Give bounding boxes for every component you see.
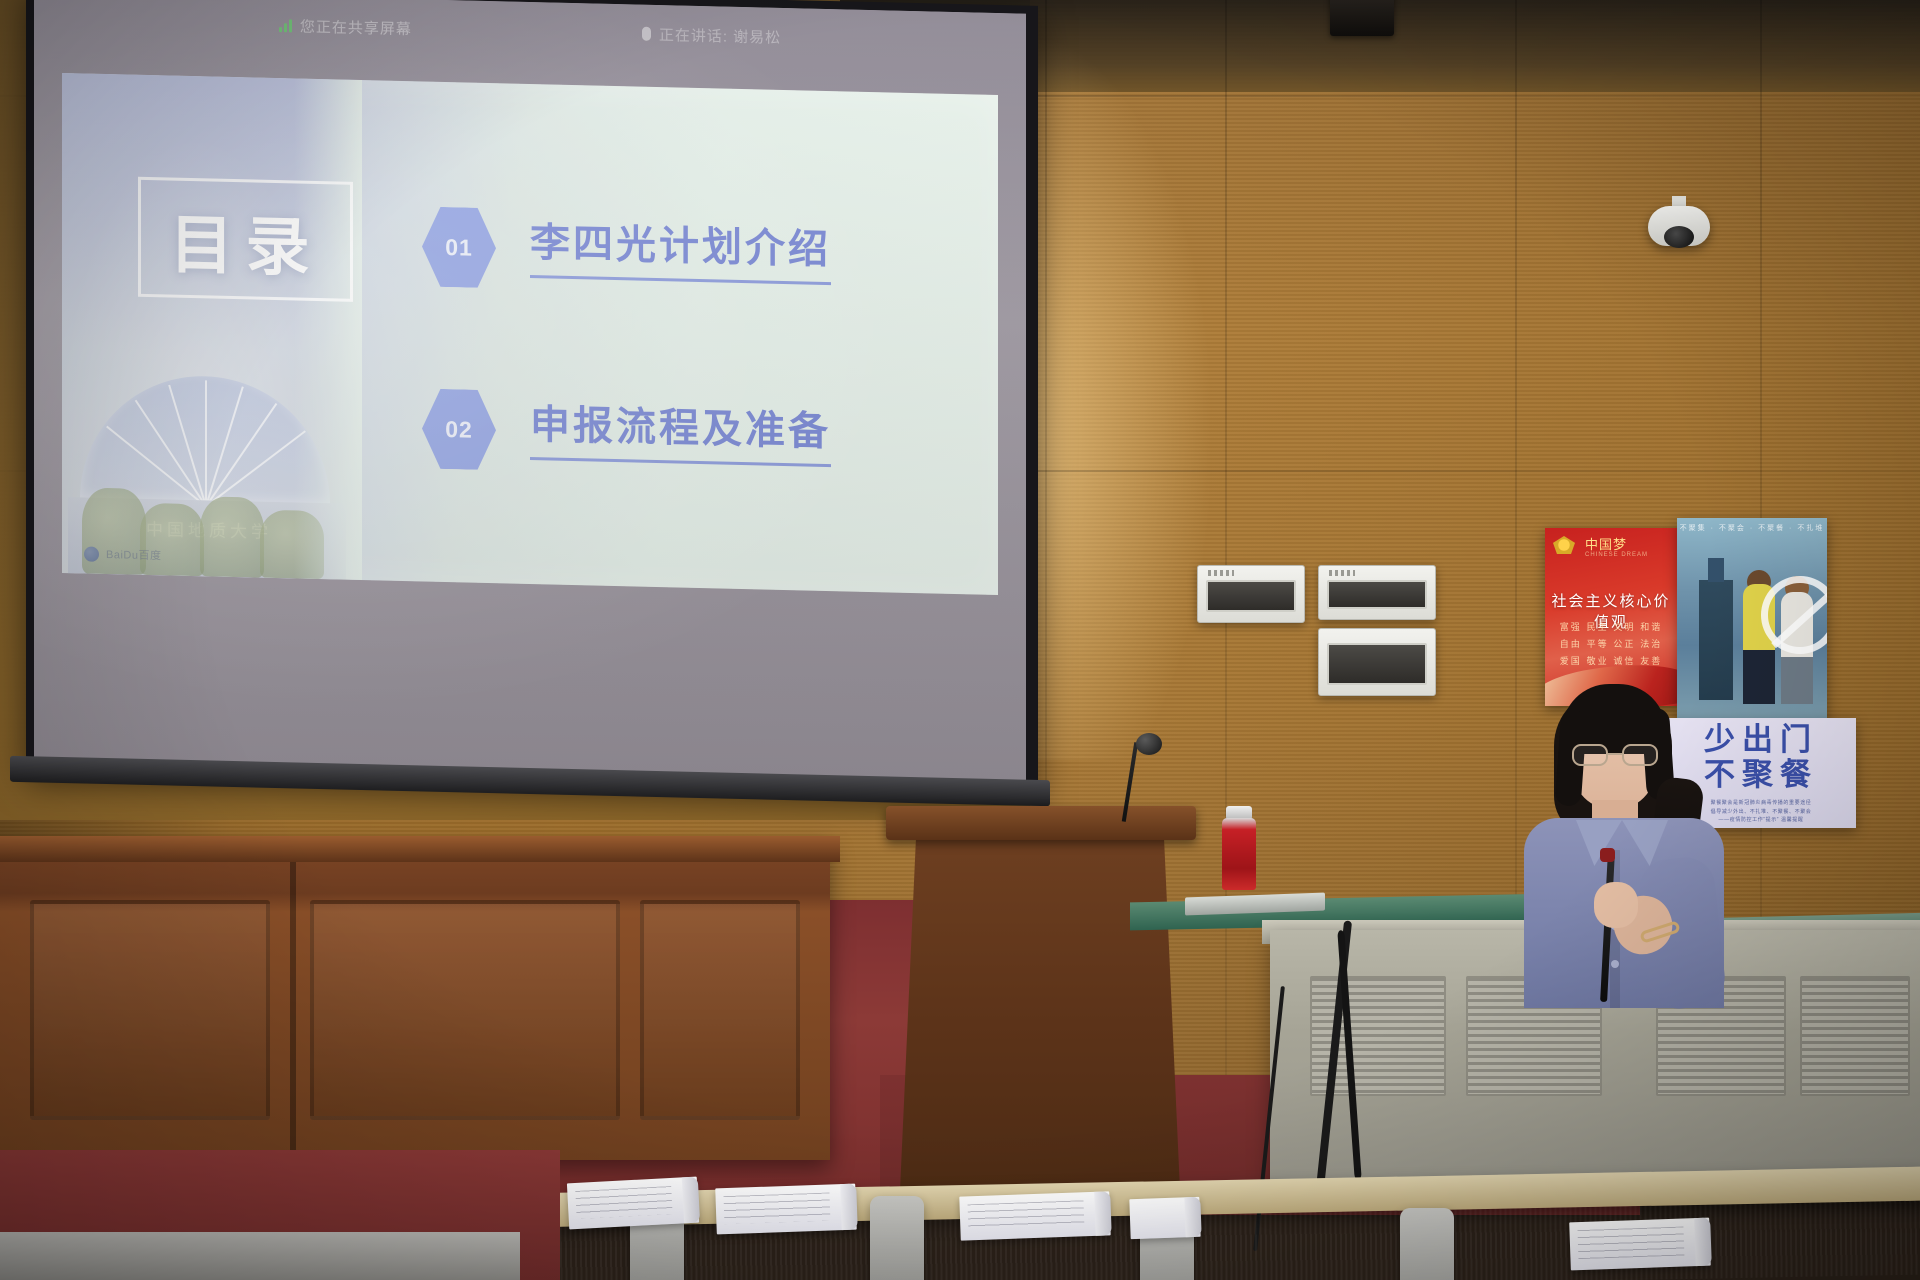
- hand: [1594, 882, 1638, 928]
- microphone-head: [1600, 848, 1615, 862]
- slide-heading: 目录: [138, 183, 353, 300]
- cola-bottle: [1222, 818, 1256, 890]
- floor-tile-strip: [0, 1232, 520, 1280]
- values-line-1: 富强 民主 文明 和谐: [1545, 620, 1677, 637]
- wooden-podium: [900, 820, 1180, 1190]
- microphone-icon: [642, 27, 651, 41]
- poster-brand-sub: CHINESE DREAM: [1585, 552, 1648, 558]
- chair[interactable]: [870, 1196, 924, 1280]
- share-status-group: 您正在共享屏幕: [279, 15, 412, 39]
- microphone-head: [1136, 733, 1162, 755]
- signal-bars-icon: [279, 18, 292, 32]
- ceiling-speaker: [1330, 0, 1394, 36]
- paper-document[interactable]: [1569, 1218, 1711, 1271]
- female-presenter: [1518, 700, 1738, 1000]
- desk-vent-panel: [1800, 976, 1910, 1096]
- watermark-icon: [84, 546, 99, 561]
- poster-no-gathering: 不聚集 · 不聚会 · 不聚餐 · 不扎堆: [1677, 518, 1827, 724]
- bench-panel: [640, 900, 800, 1120]
- prohibition-sign-icon: [1761, 576, 1827, 654]
- share-status-text: 您正在共享屏幕: [300, 15, 412, 39]
- bench-panel: [310, 900, 620, 1120]
- distribution-box-left: [1197, 565, 1305, 623]
- party-emblem-icon: [1553, 536, 1575, 554]
- tower-illustration: [1699, 580, 1733, 700]
- panel-vents: [1329, 570, 1355, 576]
- poster-brand: 中国梦: [1585, 534, 1627, 553]
- poster-values: 富强 民主 文明 和谐 自由 平等 公正 法治 爱国 敬业 诚信 友善: [1545, 620, 1677, 671]
- poster-core-values: 中国梦 CHINESE DREAM 社会主义核心价值观 富强 民主 文明 和谐 …: [1545, 528, 1677, 706]
- table-of-contents: 01 李四光计划介绍 02 申报流程及准备: [422, 203, 942, 579]
- glasses-bridge: [1608, 753, 1622, 755]
- camera-lens: [1664, 226, 1694, 248]
- toc-number-badge: 01: [422, 206, 496, 288]
- values-line-2: 自由 平等 公正 法治: [1545, 637, 1677, 654]
- toc-item-label: 申报流程及准备: [530, 403, 831, 467]
- screenshot-root: 中国梦 CHINESE DREAM 社会主义核心价值观 富强 民主 文明 和谐 …: [0, 0, 1920, 1280]
- paper-document[interactable]: [567, 1177, 699, 1230]
- bench-panel: [30, 900, 270, 1120]
- panel-window: [1206, 580, 1296, 612]
- toc-item[interactable]: 01 李四光计划介绍: [422, 203, 942, 301]
- paper-document[interactable]: [715, 1184, 857, 1235]
- photo-fade-edge: [294, 78, 362, 580]
- distribution-box-lower-right: [1318, 628, 1436, 696]
- presentation-slide: 中国地质大学 BaiDu百度 目录 01 李四光计划介绍 02: [62, 73, 998, 595]
- watermark-text: BaiDu百度: [106, 546, 161, 563]
- active-speaker-group: 正在讲话: 谢易松: [642, 23, 781, 47]
- projection-screen[interactable]: 您正在共享屏幕 正在讲话: 谢易松 中国地质大学: [34, 0, 1026, 784]
- chair[interactable]: [1400, 1208, 1454, 1280]
- bench-seam: [290, 862, 296, 1162]
- paper-document[interactable]: [959, 1191, 1110, 1240]
- toc-number-badge: 02: [422, 388, 496, 470]
- eyeglasses: [1572, 744, 1658, 766]
- slide-photo: 中国地质大学: [62, 73, 362, 580]
- podium-top-surface: [886, 806, 1196, 840]
- slide-watermark: BaiDu百度: [84, 545, 161, 563]
- paper-document[interactable]: [1129, 1197, 1200, 1239]
- toc-item-label: 李四光计划介绍: [530, 221, 831, 285]
- toc-item[interactable]: 02 申报流程及准备: [422, 385, 942, 483]
- active-speaker-label: 正在讲话: 谢易松: [659, 24, 781, 48]
- panel-window: [1327, 580, 1427, 609]
- lens-right: [1622, 744, 1658, 766]
- poster-header: 不聚集 · 不聚会 · 不聚餐 · 不扎堆: [1677, 523, 1827, 533]
- bench-top-surface: [0, 836, 840, 862]
- distribution-box-upper-right: [1318, 565, 1436, 620]
- lens-left: [1572, 744, 1608, 766]
- panel-vents: [1208, 570, 1234, 576]
- panel-window: [1327, 643, 1427, 685]
